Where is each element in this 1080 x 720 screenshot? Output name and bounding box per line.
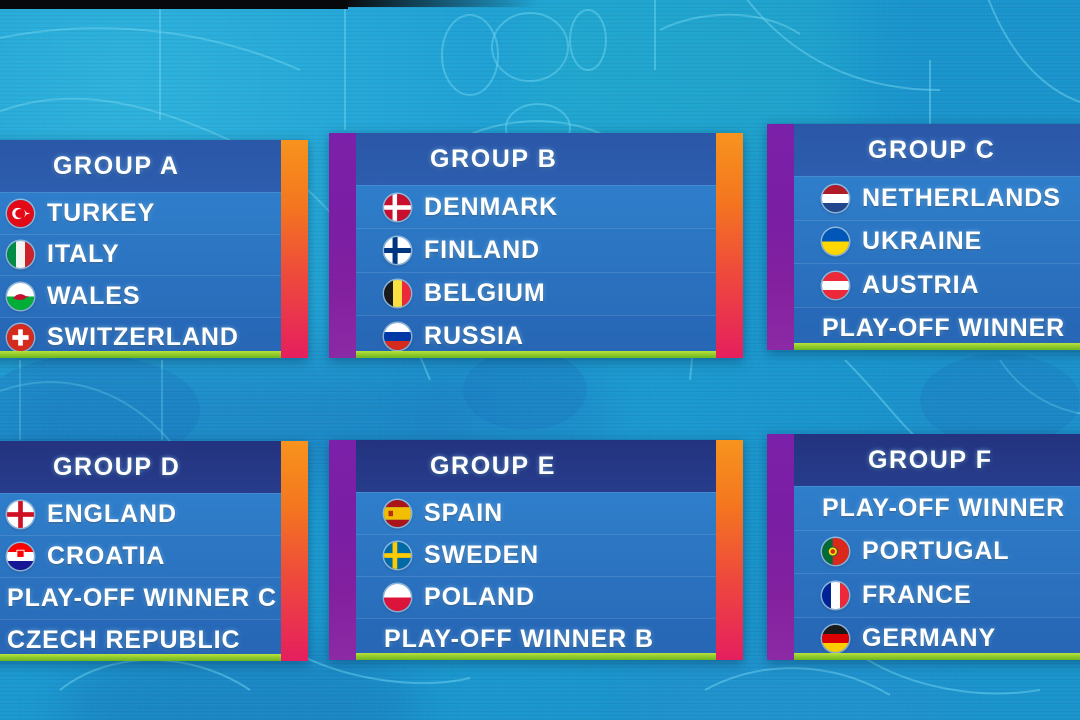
team-row[interactable]: FINLAND <box>356 228 716 271</box>
group-panel-e[interactable]: GROUP E SPAIN SWEDEN POLAND <box>329 440 743 660</box>
group-header: GROUP A <box>0 140 281 192</box>
group-title: GROUP A <box>53 152 180 181</box>
team-row[interactable]: POLAND <box>356 576 716 618</box>
group-draw-board: GROUP A TURKEY ITALY WALES <box>0 0 1080 720</box>
team-row[interactable]: CROATIA <box>0 535 281 577</box>
team-name: FRANCE <box>862 581 972 610</box>
team-name: AUSTRIA <box>862 271 979 300</box>
group-title: GROUP C <box>868 136 995 165</box>
team-row[interactable]: DENMARK <box>356 185 716 228</box>
team-row[interactable]: WALES <box>0 275 281 317</box>
team-row[interactable]: FRANCE <box>794 573 1080 617</box>
team-row[interactable]: PORTUGAL <box>794 530 1080 574</box>
group-header: GROUP E <box>356 440 716 492</box>
panel-body: GROUP F PLAY-OFF WINNER PORTUGAL FRANCE <box>794 434 1080 660</box>
flag-sweden-icon <box>384 542 411 569</box>
team-row[interactable]: PLAY-OFF WINNER C <box>0 577 281 619</box>
team-name: PLAY-OFF WINNER C <box>7 584 277 613</box>
group-panel-f[interactable]: GROUP F PLAY-OFF WINNER PORTUGAL FRANCE <box>767 434 1080 660</box>
panel-accent-bar-left <box>329 133 356 358</box>
team-name: PLAY-OFF WINNER B <box>384 625 654 654</box>
flag-england-icon <box>7 501 34 528</box>
panel-bottom-strip <box>0 351 281 358</box>
team-row[interactable]: SWEDEN <box>356 534 716 576</box>
flag-switzerland-icon <box>7 324 34 351</box>
panel-bottom-strip <box>0 654 281 661</box>
group-title: GROUP E <box>430 452 556 481</box>
group-header: GROUP F <box>794 434 1080 486</box>
team-name: NETHERLANDS <box>862 184 1061 213</box>
team-row[interactable]: ITALY <box>0 234 281 276</box>
flag-france-icon <box>822 582 849 609</box>
panel-accent-bar-right <box>281 441 308 661</box>
team-name: UKRAINE <box>862 227 982 256</box>
flag-denmark-icon <box>384 194 411 221</box>
group-header: GROUP C <box>794 124 1080 176</box>
panel-body: GROUP C NETHERLANDS UKRAINE AUSTRIA <box>794 124 1080 350</box>
panel-accent-bar-right <box>281 140 308 358</box>
flag-belgium-icon <box>384 280 411 307</box>
flag-ukraine-icon <box>822 228 849 255</box>
flag-wales-icon <box>7 283 34 310</box>
team-name: BELGIUM <box>424 279 546 308</box>
flag-russia-icon <box>384 323 411 350</box>
flag-italy-icon <box>7 241 34 268</box>
group-title: GROUP D <box>53 453 180 482</box>
team-row[interactable]: PLAY-OFF WINNER <box>794 486 1080 530</box>
panel-bottom-strip <box>794 343 1080 350</box>
team-name: TURKEY <box>47 199 155 228</box>
team-name: SWITZERLAND <box>47 323 239 352</box>
panel-accent-bar-left <box>767 434 794 660</box>
group-header: GROUP D <box>0 441 281 493</box>
team-name: PORTUGAL <box>862 537 1009 566</box>
group-title: GROUP B <box>430 145 557 174</box>
group-panel-b[interactable]: GROUP B DENMARK FINLAND BELGIUM <box>329 133 743 358</box>
panel-accent-bar-left <box>329 440 356 660</box>
team-name: RUSSIA <box>424 322 524 351</box>
team-name: DENMARK <box>424 193 558 222</box>
panel-body: GROUP B DENMARK FINLAND BELGIUM <box>356 133 716 358</box>
team-name: CROATIA <box>47 542 165 571</box>
team-name: SPAIN <box>424 499 503 528</box>
team-row[interactable]: AUSTRIA <box>794 263 1080 307</box>
panel-accent-bar-left <box>767 124 794 350</box>
team-name: PLAY-OFF WINNER <box>822 494 1065 523</box>
team-row[interactable]: SPAIN <box>356 492 716 534</box>
team-row[interactable]: TURKEY <box>0 192 281 234</box>
team-name: GERMANY <box>862 624 996 653</box>
flag-netherlands-icon <box>822 185 849 212</box>
panel-accent-bar-right <box>716 440 743 660</box>
flag-portugal-icon <box>822 538 849 565</box>
panel-body: GROUP D ENGLAND CROATIA PLAY-OFF WINNER … <box>0 441 281 661</box>
team-name: PLAY-OFF WINNER <box>822 314 1065 343</box>
flag-austria-icon <box>822 272 849 299</box>
flag-finland-icon <box>384 237 411 264</box>
group-panel-a[interactable]: GROUP A TURKEY ITALY WALES <box>0 140 308 358</box>
group-header: GROUP B <box>356 133 716 185</box>
team-row[interactable]: ENGLAND <box>0 493 281 535</box>
team-name: ITALY <box>47 240 120 269</box>
team-name: WALES <box>47 282 140 311</box>
panel-body: GROUP E SPAIN SWEDEN POLAND <box>356 440 716 660</box>
group-panel-d[interactable]: GROUP D ENGLAND CROATIA PLAY-OFF WINNER … <box>0 441 308 661</box>
team-row[interactable]: NETHERLANDS <box>794 176 1080 220</box>
panel-accent-bar-right <box>716 133 743 358</box>
flag-spain-icon <box>384 500 411 527</box>
flag-poland-icon <box>384 584 411 611</box>
panel-bottom-strip <box>356 653 716 660</box>
team-row[interactable]: BELGIUM <box>356 272 716 315</box>
flag-turkey-icon <box>7 200 34 227</box>
flag-germany-icon <box>822 625 849 652</box>
team-row[interactable]: UKRAINE <box>794 220 1080 264</box>
group-panel-c[interactable]: GROUP C NETHERLANDS UKRAINE AUSTRIA <box>767 124 1080 350</box>
team-name: POLAND <box>424 583 535 612</box>
panel-bottom-strip <box>794 653 1080 660</box>
team-name: FINLAND <box>424 236 540 265</box>
group-title: GROUP F <box>868 446 993 475</box>
flag-croatia-icon <box>7 543 34 570</box>
team-name: SWEDEN <box>424 541 539 570</box>
team-name: ENGLAND <box>47 500 177 529</box>
panel-body: GROUP A TURKEY ITALY WALES <box>0 140 281 358</box>
team-name: CZECH REPUBLIC <box>7 626 240 655</box>
panel-bottom-strip <box>356 351 716 358</box>
